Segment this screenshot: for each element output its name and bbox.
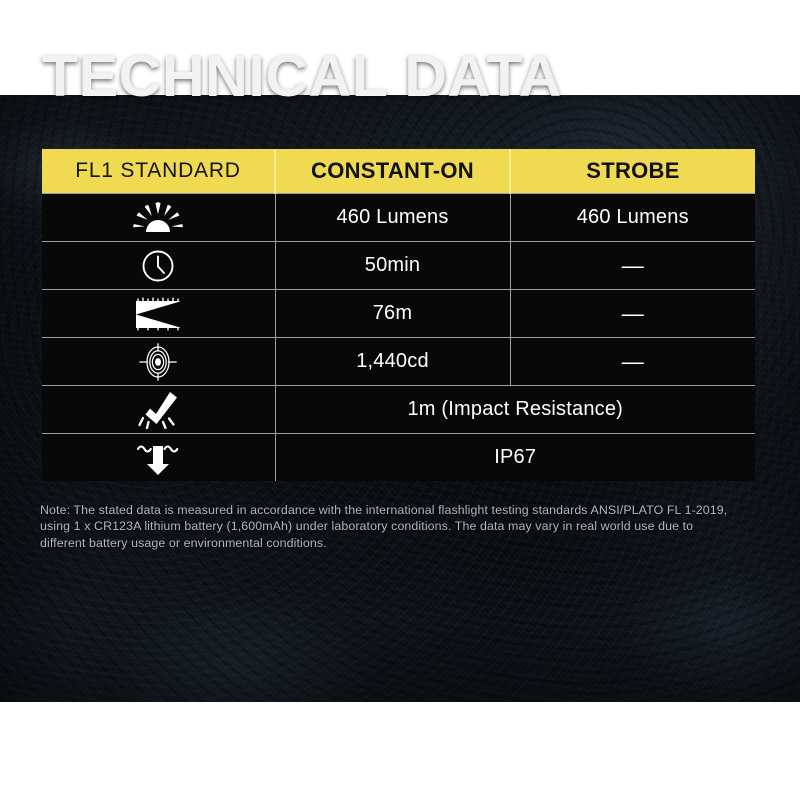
table-row: 460 Lumens 460 Lumens xyxy=(42,194,755,242)
row-icon-cell xyxy=(42,194,275,242)
footnote-line-3: different battery usage or environmental… xyxy=(40,535,776,551)
table-row: 50min — xyxy=(42,242,755,290)
row-icon-cell xyxy=(42,242,275,290)
header-constant-on: CONSTANT-ON xyxy=(275,149,510,194)
content-layer: TECHNICAL DATA FL1 STANDARD CONSTANT-ON … xyxy=(0,0,800,800)
cell-strobe: — xyxy=(510,242,755,290)
waterproof-icon xyxy=(134,446,182,468)
runtime-clock-icon xyxy=(141,254,175,276)
cell-constant-on: 76m xyxy=(275,290,510,338)
table-body: 460 Lumens 460 Lumens 5 xyxy=(42,194,755,482)
table-row: 76m — xyxy=(42,290,755,338)
table-header-row: FL1 STANDARD CONSTANT-ON STROBE xyxy=(42,149,755,194)
page-title: TECHNICAL DATA xyxy=(42,48,562,106)
row-icon-cell xyxy=(42,338,275,386)
footnote: Note: The stated data is measured in acc… xyxy=(40,502,776,551)
table-header: FL1 STANDARD CONSTANT-ON STROBE xyxy=(42,149,755,194)
cell-strobe: — xyxy=(510,290,755,338)
cell-span-value: 1m (Impact Resistance) xyxy=(275,386,755,434)
row-icon-cell xyxy=(42,386,275,434)
cell-span-value: IP67 xyxy=(275,434,755,482)
row-icon-cell xyxy=(42,434,275,482)
impact-resistance-icon xyxy=(136,398,180,420)
peak-beam-intensity-icon xyxy=(139,350,177,372)
footnote-line-2: using 1 x CR123A lithium battery (1,600m… xyxy=(40,518,776,534)
table-row: 1m (Impact Resistance) xyxy=(42,386,755,434)
table-row: IP67 xyxy=(42,434,755,482)
brightness-icon xyxy=(132,206,184,228)
technical-data-table: FL1 STANDARD CONSTANT-ON STROBE xyxy=(42,149,755,481)
cell-strobe: 460 Lumens xyxy=(510,194,755,242)
cell-constant-on: 50min xyxy=(275,242,510,290)
footnote-line-1: Note: The stated data is measured in acc… xyxy=(40,502,776,518)
cell-constant-on: 460 Lumens xyxy=(275,194,510,242)
cell-constant-on: 1,440cd xyxy=(275,338,510,386)
table-row: 1,440cd — xyxy=(42,338,755,386)
beam-distance-icon xyxy=(135,302,181,324)
header-strobe: STROBE xyxy=(510,149,755,194)
page-root: TECHNICAL DATA FL1 STANDARD CONSTANT-ON … xyxy=(0,0,800,800)
cell-strobe: — xyxy=(510,338,755,386)
row-icon-cell xyxy=(42,290,275,338)
header-fl1-standard: FL1 STANDARD xyxy=(42,149,275,194)
